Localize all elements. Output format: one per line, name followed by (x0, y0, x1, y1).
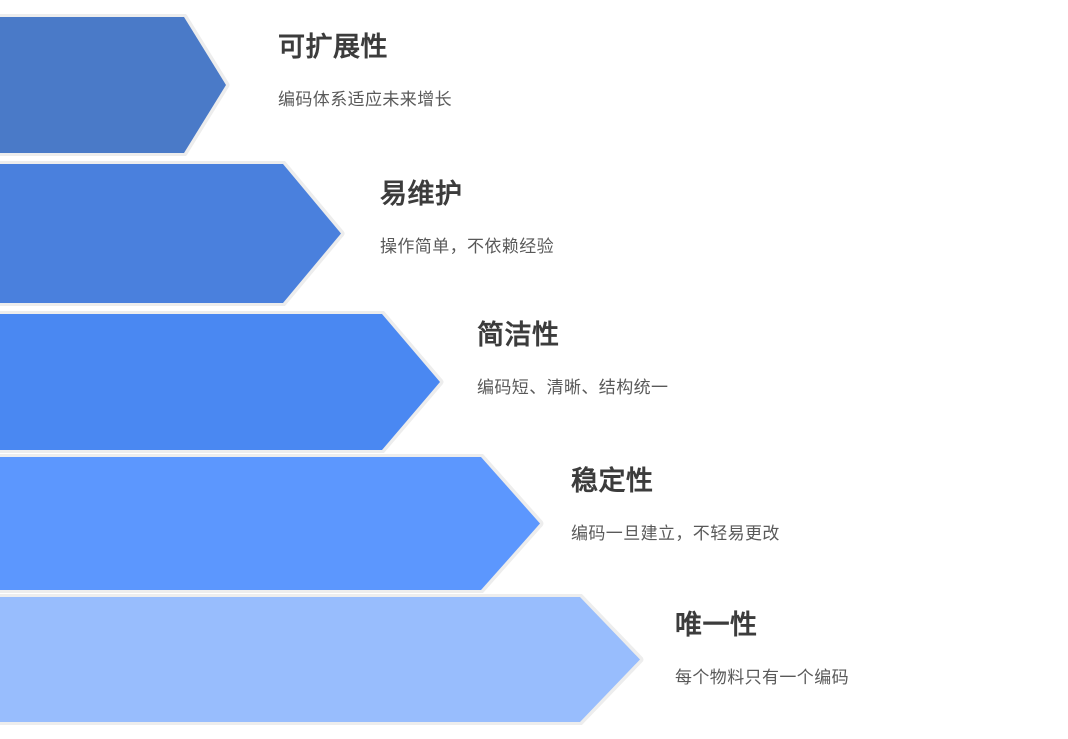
chevron-title: 可扩展性 (278, 32, 452, 63)
chevron-fill (0, 17, 226, 153)
diagram-canvas: 可扩展性编码体系适应未来增长易维护操作简单，不依赖经验简洁性编码短、清晰、结构统… (0, 0, 1068, 739)
chevron-description: 编码短、清晰、结构统一 (477, 377, 668, 399)
chevron-text-block: 稳定性编码一旦建立，不轻易更改 (571, 466, 780, 545)
chevron-text-block: 可扩展性编码体系适应未来增长 (278, 32, 452, 111)
chevron-description: 操作简单，不依赖经验 (380, 236, 554, 258)
chevron-shape[interactable] (0, 161, 349, 306)
chevron-row: 可扩展性编码体系适应未来增长 (0, 14, 1068, 156)
chevron-fill (0, 597, 640, 722)
chevron-text-block: 唯一性每个物料只有一个编码 (675, 610, 849, 689)
chevron-row: 易维护操作简单，不依赖经验 (0, 161, 1068, 306)
chevron-shape[interactable] (0, 594, 648, 725)
chevron-title: 唯一性 (675, 610, 849, 641)
chevron-fill (0, 314, 440, 450)
chevron-fill (0, 457, 540, 590)
chevron-title: 简洁性 (477, 320, 668, 351)
chevron-description: 编码一旦建立，不轻易更改 (571, 523, 780, 545)
chevron-row: 唯一性每个物料只有一个编码 (0, 594, 1068, 725)
chevron-shape[interactable] (0, 454, 548, 593)
chevron-shape[interactable] (0, 311, 448, 453)
chevron-shape[interactable] (0, 14, 234, 156)
chevron-row: 简洁性编码短、清晰、结构统一 (0, 311, 1068, 453)
chevron-text-block: 简洁性编码短、清晰、结构统一 (477, 320, 668, 399)
chevron-title: 易维护 (380, 179, 554, 210)
chevron-title: 稳定性 (571, 466, 780, 497)
chevron-text-block: 易维护操作简单，不依赖经验 (380, 179, 554, 258)
chevron-description: 每个物料只有一个编码 (675, 667, 849, 689)
chevron-row: 稳定性编码一旦建立，不轻易更改 (0, 454, 1068, 593)
chevron-description: 编码体系适应未来增长 (278, 89, 452, 111)
chevron-fill (0, 164, 341, 303)
